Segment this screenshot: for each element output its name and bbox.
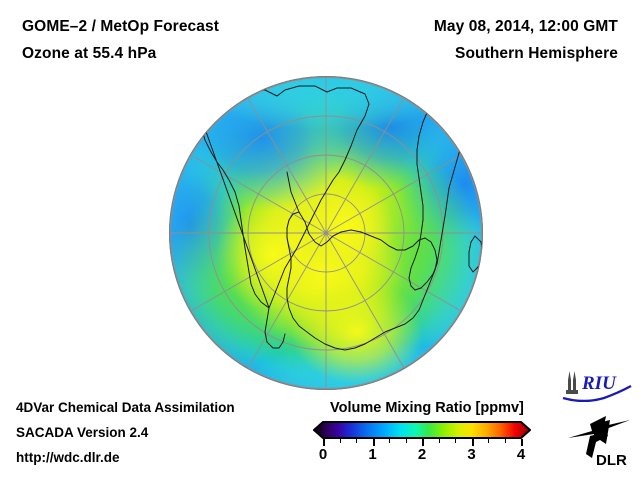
colorbar-minor-tick bbox=[340, 439, 341, 443]
dlr-wordmark: DLR bbox=[596, 452, 627, 468]
hemisphere-label: Southern Hemisphere bbox=[455, 45, 618, 63]
colorbar-ticks bbox=[313, 439, 531, 446]
colorbar-minor-tick bbox=[406, 439, 407, 443]
colorbar-tick-label: 1 bbox=[368, 446, 376, 463]
riu-wordmark: RIU bbox=[581, 373, 617, 394]
colorbar-minor-tick bbox=[488, 439, 489, 443]
high-ozone-lobe-n bbox=[295, 180, 395, 272]
colorbar-major-tick bbox=[521, 439, 523, 446]
cathedral-icon bbox=[566, 371, 578, 394]
page-title-line2: Ozone at 55.4 hPa bbox=[22, 45, 156, 63]
colorbar-minor-tick bbox=[389, 439, 390, 443]
colorbar-minor-tick bbox=[439, 439, 440, 443]
colorbar-major-tick bbox=[323, 439, 325, 446]
colorbar-canvas bbox=[313, 421, 531, 439]
colorbar bbox=[313, 421, 531, 439]
globe-disc bbox=[169, 76, 483, 390]
dlr-logo: DLR bbox=[566, 414, 634, 468]
riu-logo: RIU bbox=[560, 368, 634, 402]
footer-url[interactable]: http://wdc.dlr.de bbox=[16, 450, 120, 465]
colorbar-title: Volume Mixing Ratio [ppmv] bbox=[330, 400, 524, 416]
map-field bbox=[169, 76, 483, 390]
map-canvas bbox=[169, 76, 483, 390]
colorbar-tick-label: 2 bbox=[418, 446, 426, 463]
forecast-datetime: May 08, 2014, 12:00 GMT bbox=[434, 18, 618, 36]
colorbar-gradient bbox=[314, 422, 530, 438]
coastline-island-small bbox=[219, 372, 227, 376]
colorbar-tick-label: 3 bbox=[467, 446, 475, 463]
colorbar-minor-tick bbox=[356, 439, 357, 443]
colorbar-major-tick bbox=[472, 439, 474, 446]
footer-assimilation: 4DVar Chemical Data Assimilation bbox=[16, 400, 235, 415]
colorbar-tick-label: 4 bbox=[517, 446, 525, 463]
ozone-map bbox=[169, 76, 483, 390]
footer-version: SACADA Version 2.4 bbox=[16, 425, 148, 440]
colorbar-minor-tick bbox=[455, 439, 456, 443]
colorbar-tick-label: 0 bbox=[319, 446, 327, 463]
colorbar-minor-tick bbox=[505, 439, 506, 443]
colorbar-major-tick bbox=[373, 439, 375, 446]
colorbar-tick-labels: 01234 bbox=[313, 446, 531, 470]
page-title-line1: GOME–2 / MetOp Forecast bbox=[22, 18, 219, 36]
colorbar-major-tick bbox=[422, 439, 424, 446]
